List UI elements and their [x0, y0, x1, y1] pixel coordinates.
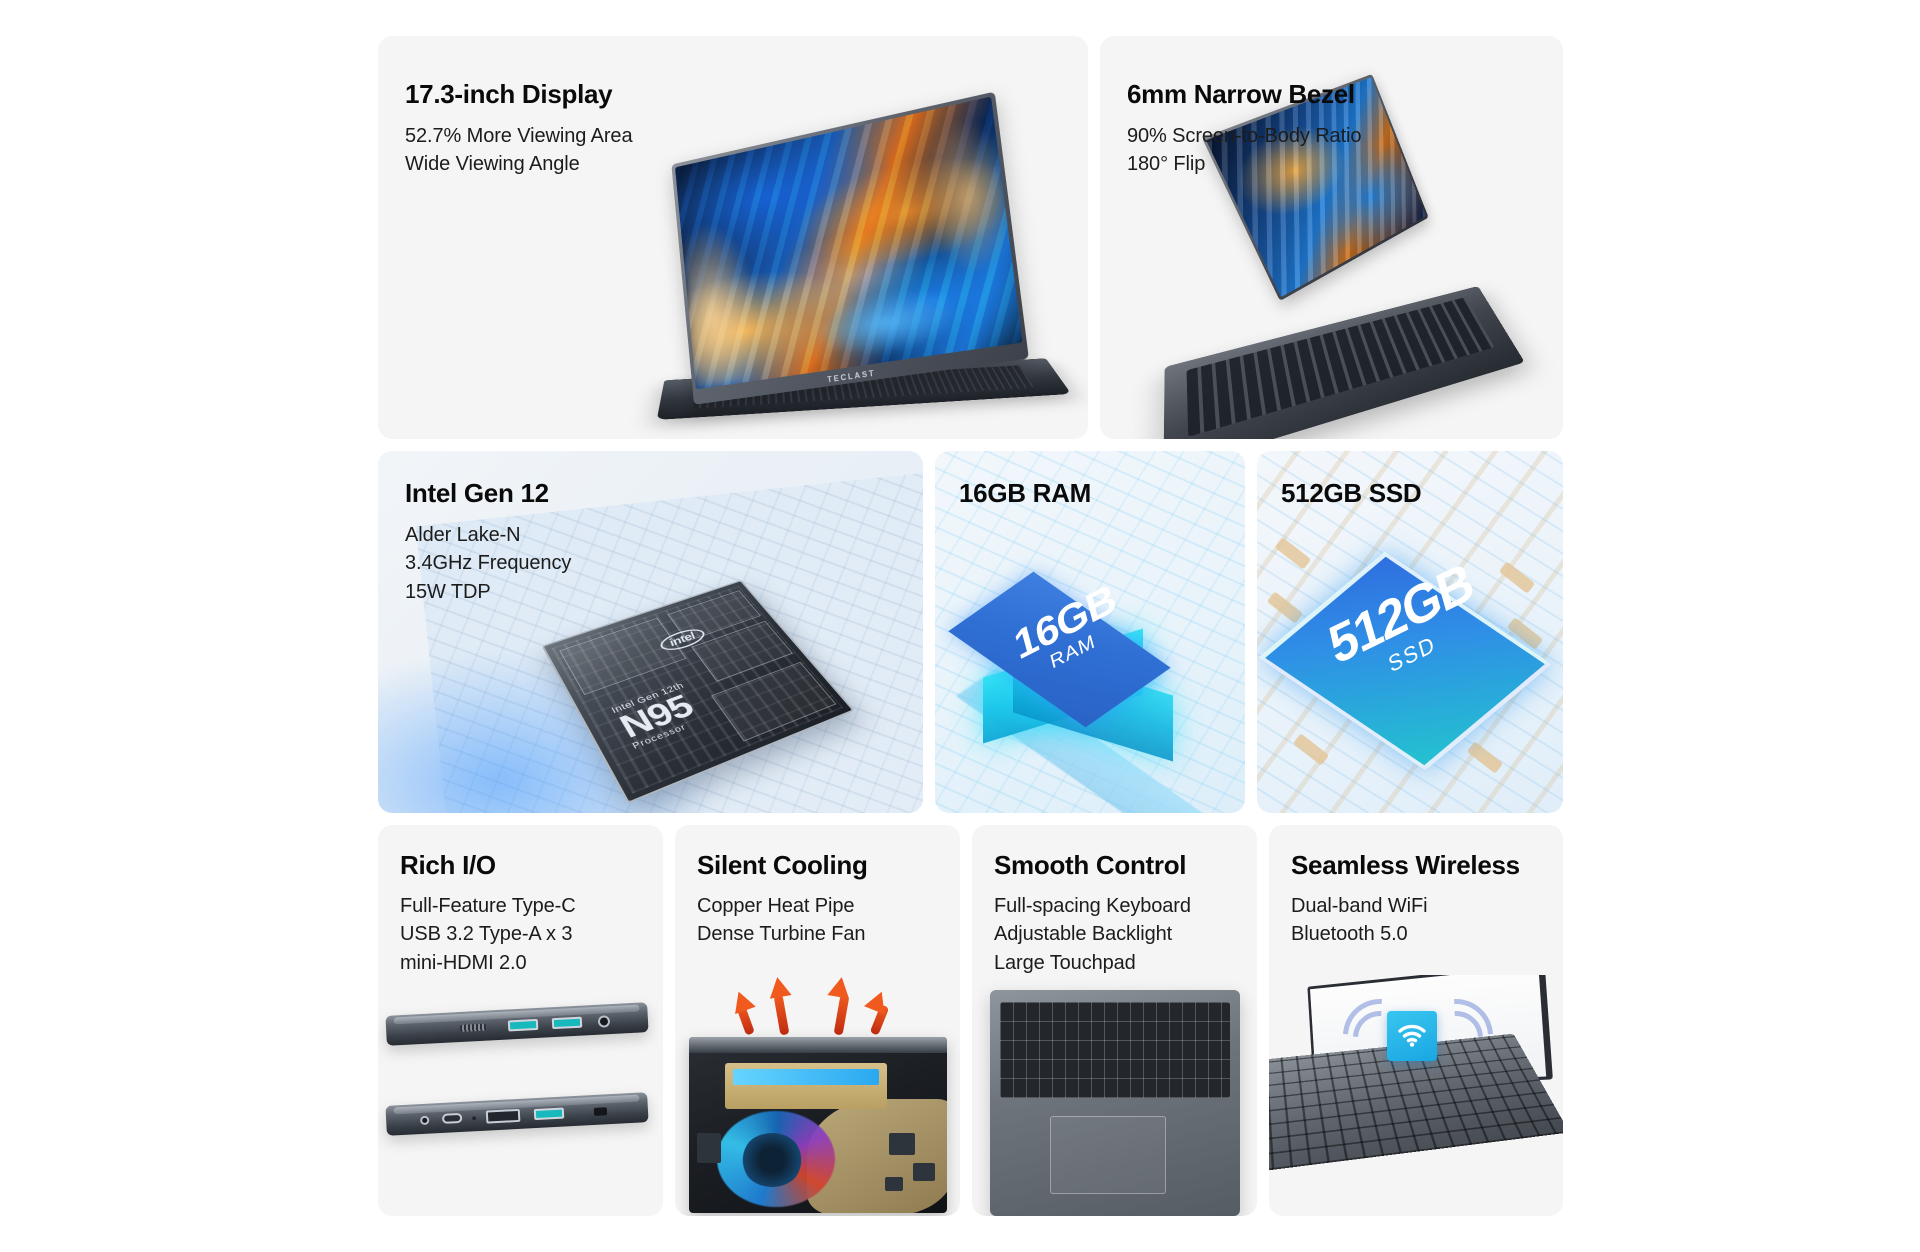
- heat-arrow-icon: [728, 988, 756, 1014]
- feature-card-ram[interactable]: 16GB RAM 16GB RAM: [935, 451, 1245, 813]
- indicator-dot-icon: [472, 1116, 476, 1120]
- usb-port-icon: [552, 1017, 583, 1030]
- bezel-line-2: 180° Flip: [1127, 150, 1361, 178]
- cpu-text-block: Intel Gen 12 Alder Lake-N 3.4GHz Frequen…: [405, 479, 571, 606]
- wireless-line-1: Dual-band WiFi: [1291, 892, 1520, 920]
- ram-title: 16GB RAM: [959, 479, 1091, 509]
- feature-card-ssd[interactable]: 512GB SSD 512GB SSD: [1257, 451, 1563, 813]
- display-line-1: 52.7% More Viewing Area: [405, 122, 632, 150]
- cooling-title: Silent Cooling: [697, 851, 868, 881]
- fan-core: [741, 1133, 803, 1187]
- io-line-1: Full-Feature Type-C: [400, 892, 576, 920]
- pcb-chip: [913, 1163, 935, 1181]
- type-c-port-icon: [442, 1113, 462, 1124]
- usb-port-icon: [508, 1019, 539, 1032]
- display-title: 17.3-inch Display: [405, 80, 632, 110]
- control-line-3: Large Touchpad: [994, 949, 1191, 977]
- feature-card-io[interactable]: Rich I/O Full-Feature Type-C USB 3.2 Typ…: [378, 825, 663, 1216]
- wireless-title: Seamless Wireless: [1291, 851, 1520, 881]
- lock-slot-icon: [594, 1107, 607, 1116]
- ssd-title: 512GB SSD: [1281, 479, 1421, 509]
- control-text-block: Smooth Control Full-spacing Keyboard Adj…: [994, 851, 1191, 977]
- cpu-line-3: 15W TDP: [405, 578, 571, 606]
- vent-icon: [460, 1024, 486, 1032]
- feature-card-control[interactable]: Smooth Control Full-spacing Keyboard Adj…: [972, 825, 1257, 1216]
- cooling-system-image: [689, 985, 949, 1215]
- laptop-screen-wallpaper: [675, 96, 1023, 389]
- bezel-text-block: 6mm Narrow Bezel 90% Screen-to-Body Rati…: [1127, 80, 1361, 179]
- heat-arrow-icon: [766, 975, 791, 999]
- wifi-icon: [1387, 1011, 1437, 1061]
- cpu-line-1: Alder Lake-N: [405, 521, 571, 549]
- keyboard-image: [990, 990, 1240, 1216]
- feature-card-display[interactable]: 17.3-inch Display 52.7% More Viewing Are…: [378, 36, 1088, 439]
- laptop-internals: [689, 1037, 947, 1213]
- wireless-line-2: Bluetooth 5.0: [1291, 920, 1520, 948]
- wireless-laptop-image: TECLAST: [1269, 975, 1563, 1216]
- cpu-line-2: 3.4GHz Frequency: [405, 549, 571, 577]
- audio-jack-icon: [420, 1116, 429, 1125]
- control-line-2: Adjustable Backlight: [994, 920, 1191, 948]
- pcb-chip: [889, 1133, 915, 1155]
- pcb-chip: [885, 1177, 903, 1191]
- io-line-2: USB 3.2 Type-A x 3: [400, 920, 576, 948]
- control-title: Smooth Control: [994, 851, 1191, 881]
- laptop-side-right: [385, 1002, 648, 1046]
- rear-vent-bar: [689, 1037, 947, 1053]
- mini-hdmi-port-icon: [486, 1109, 521, 1124]
- display-text-block: 17.3-inch Display 52.7% More Viewing Are…: [405, 80, 632, 179]
- laptop-ports-image: [378, 995, 663, 1215]
- touchpad: [1050, 1116, 1166, 1194]
- bezel-title: 6mm Narrow Bezel: [1127, 80, 1361, 110]
- cooling-text-block: Silent Cooling Copper Heat Pipe Dense Tu…: [697, 851, 868, 949]
- wireless-text-block: Seamless Wireless Dual-band WiFi Bluetoo…: [1291, 851, 1520, 949]
- product-feature-grid: 17.3-inch Display 52.7% More Viewing Are…: [0, 0, 1920, 1252]
- usb-port-icon: [534, 1108, 565, 1121]
- power-jack-icon: [598, 1015, 611, 1028]
- cooling-line-1: Copper Heat Pipe: [697, 892, 868, 920]
- heat-arrow-icon: [827, 975, 852, 999]
- feature-card-bezel[interactable]: 6mm Narrow Bezel 90% Screen-to-Body Rati…: [1100, 36, 1563, 439]
- ram-text-block: 16GB RAM: [959, 479, 1091, 509]
- heat-arrow-stem: [834, 995, 850, 1036]
- feature-card-cooling[interactable]: Silent Cooling Copper Heat Pipe Dense Tu…: [675, 825, 960, 1216]
- control-line-1: Full-spacing Keyboard: [994, 892, 1191, 920]
- io-line-3: mini-HDMI 2.0: [400, 949, 576, 977]
- ssd-text-block: 512GB SSD: [1281, 479, 1421, 509]
- feature-card-grid: 17.3-inch Display 52.7% More Viewing Are…: [378, 36, 1563, 1216]
- heat-arrow-stem: [774, 995, 790, 1036]
- io-text-block: Rich I/O Full-Feature Type-C USB 3.2 Typ…: [400, 851, 576, 977]
- copper-heat-pipe: [725, 1063, 887, 1109]
- flip-base: [1163, 286, 1524, 439]
- feature-card-wireless[interactable]: Seamless Wireless Dual-band WiFi Bluetoo…: [1269, 825, 1563, 1216]
- ram-chip-image: 16GB RAM: [977, 567, 1177, 767]
- bezel-line-1: 90% Screen-to-Body Ratio: [1127, 122, 1361, 150]
- io-title: Rich I/O: [400, 851, 576, 881]
- flip-base-keys: [1187, 297, 1495, 437]
- laptop-lid: TECLAST: [671, 92, 1029, 405]
- pcb-chip: [697, 1133, 721, 1163]
- feature-card-cpu[interactable]: intel Intel Gen 12th N95 Processor Intel…: [378, 451, 923, 813]
- laptop-side-left: [385, 1092, 648, 1136]
- cooling-line-2: Dense Turbine Fan: [697, 920, 868, 948]
- laptop-open-image: TECLAST: [668, 121, 1068, 439]
- keyboard-keys: [1000, 1002, 1230, 1098]
- display-line-2: Wide Viewing Angle: [405, 150, 632, 178]
- cpu-title: Intel Gen 12: [405, 479, 571, 509]
